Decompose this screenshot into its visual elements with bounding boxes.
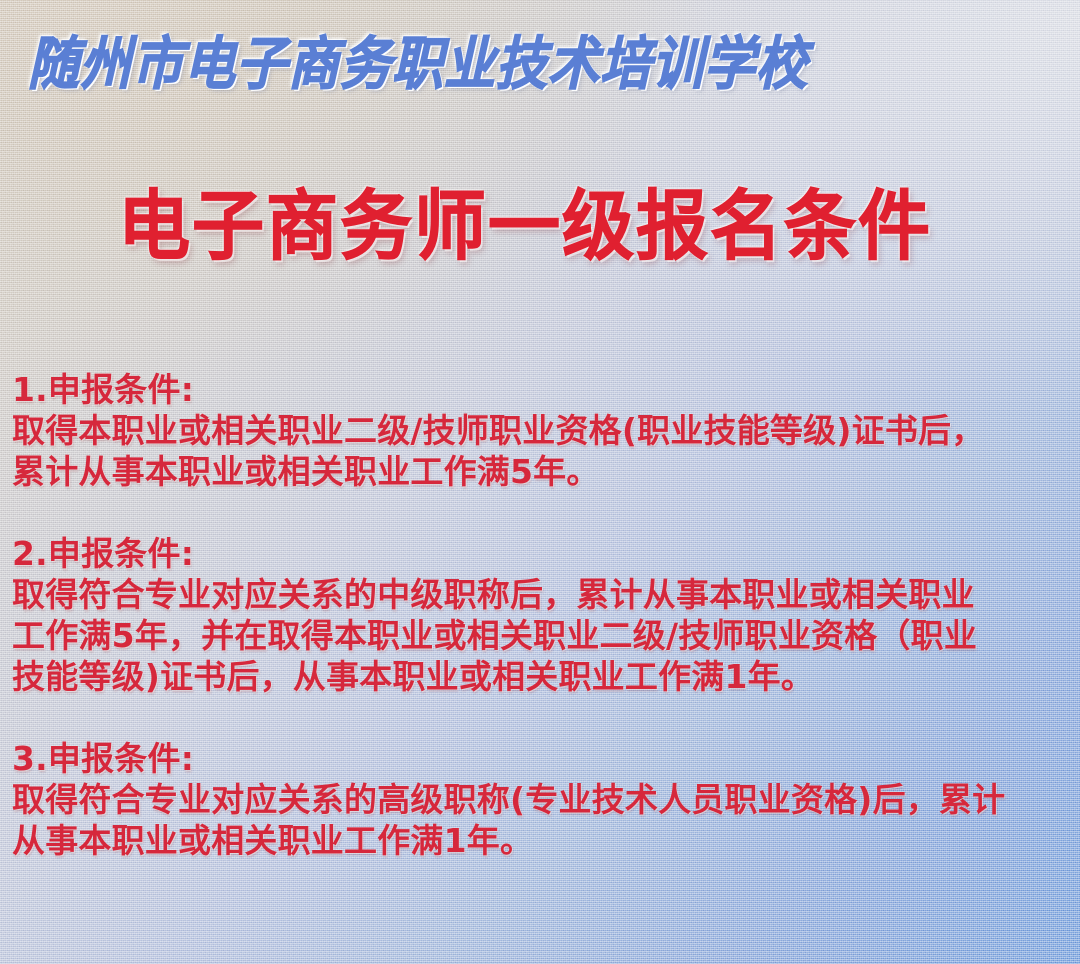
condition-line: 取得符合专业对应关系的中级职称后，累计从事本职业或相关职业	[12, 574, 1074, 615]
condition-line: 技能等级)证书后，从事本职业或相关职业工作满1年。	[12, 656, 1074, 697]
condition-heading: 2.申报条件:	[12, 533, 1074, 574]
page-title: 电子商务师一级报名条件	[118, 188, 932, 264]
condition-line: 累计从事本职业或相关职业工作满5年。	[12, 451, 1074, 492]
poster-canvas: 随州市电子商务职业技术培训学校 电子商务师一级报名条件 1.申报条件: 取得本职…	[0, 0, 1080, 964]
condition-heading: 1.申报条件:	[12, 369, 1074, 410]
condition-block-1: 1.申报条件: 取得本职业或相关职业二级/技师职业资格(职业技能等级)证书后， …	[12, 369, 1074, 492]
condition-line: 工作满5年，并在取得本职业或相关职业二级/技师职业资格（职业	[12, 615, 1074, 656]
condition-line: 从事本职业或相关职业工作满1年。	[12, 820, 1074, 861]
condition-block-3: 3.申报条件: 取得符合专业对应关系的高级职称(专业技术人员职业资格)后，累计 …	[12, 738, 1074, 861]
school-name-header: 随州市电子商务职业技术培训学校	[28, 34, 808, 96]
condition-line: 取得符合专业对应关系的高级职称(专业技术人员职业资格)后，累计	[12, 779, 1074, 820]
poster-content: 随州市电子商务职业技术培训学校 电子商务师一级报名条件 1.申报条件: 取得本职…	[0, 0, 1080, 964]
condition-heading: 3.申报条件:	[12, 738, 1074, 779]
condition-line: 取得本职业或相关职业二级/技师职业资格(职业技能等级)证书后，	[12, 410, 1074, 451]
condition-block-2: 2.申报条件: 取得符合专业对应关系的中级职称后，累计从事本职业或相关职业 工作…	[12, 533, 1074, 697]
